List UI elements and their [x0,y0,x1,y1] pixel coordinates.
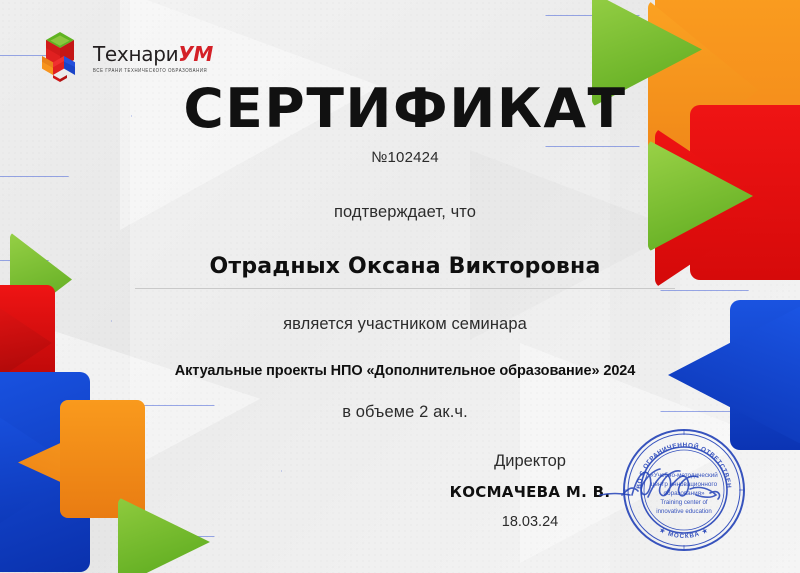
recipient-underline [135,288,675,289]
issue-date: 18.03.24 [430,514,630,530]
logo-word-main: Технари [93,42,178,66]
signature-block: Директор КОСМАЧЕВА М. В. 18.03.24 [430,452,630,530]
logo-word-accent: УМ [178,42,213,66]
participation-label: является участником семинара [130,315,680,334]
logo-wordmark: ТехнариУМ [93,44,213,64]
certificate-body: СЕРТИФИКАТ №102424 подтверждает, что Отр… [130,82,680,422]
volume-label: в объеме 2 ак.ч. [130,403,680,422]
event-title: Актуальные проекты НПО «Дополнительное о… [130,363,680,379]
svg-text:«Учебно-методический: «Учебно-методический [650,471,718,479]
round-official-stamp-icon: ОБЩЕСТВО С ОГРАНИЧЕННОЙ ОТВЕТСТВЕННОСТЬЮ… [621,427,747,553]
logo-tagline: ВСЕ ГРАНИ ТЕХНИЧЕСКОГО ОБРАЗОВАНИЯ [93,67,213,73]
brand-logo: ТехнариУМ ВСЕ ГРАНИ ТЕХНИЧЕСКОГО ОБРАЗОВ… [34,28,210,84]
signatory-name: КОСМАЧЕВА М. В. [430,483,630,501]
signatory-role: Директор [430,452,630,471]
isometric-cube-logo-icon [34,30,86,82]
logo-text: ТехнариУМ ВСЕ ГРАНИ ТЕХНИЧЕСКОГО ОБРАЗОВ… [93,40,213,72]
svg-text:Training center of: Training center of [660,499,708,506]
confirms-label: подтверждает, что [130,203,680,222]
certificate-document: ТехнариУМ ВСЕ ГРАНИ ТЕХНИЧЕСКОГО ОБРАЗОВ… [0,0,800,573]
svg-text:образования»: образования» [663,489,705,497]
svg-text:innovative education: innovative education [656,508,712,515]
svg-text:центр инновационного: центр инновационного [651,481,718,488]
certificate-title: СЕРТИФИКАТ [125,82,686,136]
recipient-name: Отрадных Оксана Викторовна [130,254,680,279]
certificate-number: №102424 [130,149,680,166]
